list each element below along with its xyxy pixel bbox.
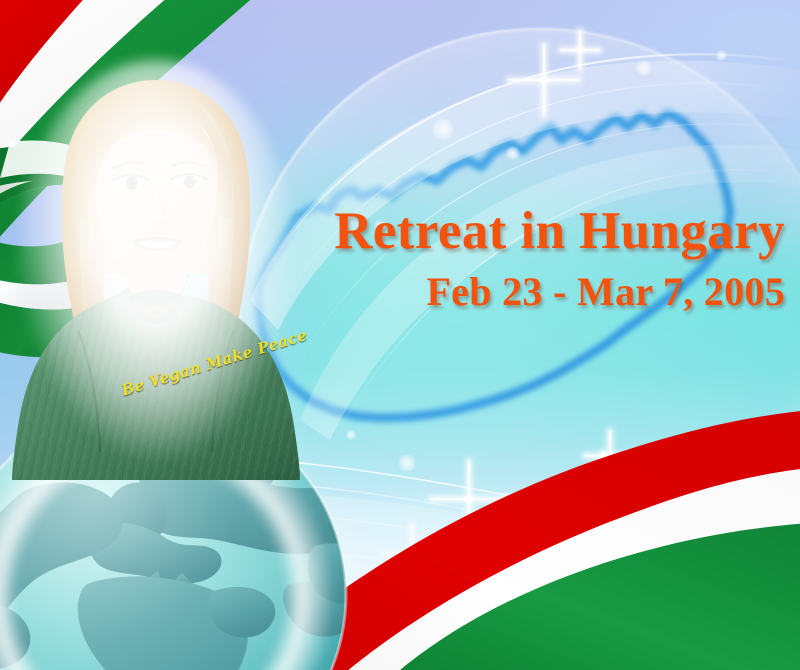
portrait-photo: Be Vegan Make Peace <box>6 60 306 480</box>
portrait-glow <box>16 60 296 460</box>
poster-canvas: Be Vegan Make Peace Retreat in Hungary F… <box>0 0 800 670</box>
